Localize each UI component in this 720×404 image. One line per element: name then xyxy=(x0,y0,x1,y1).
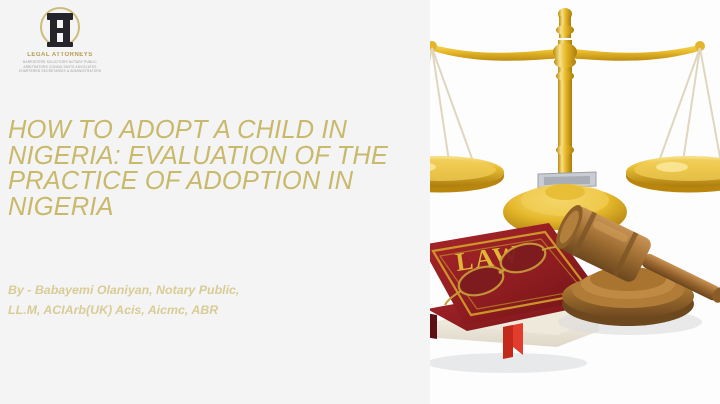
legal-artwork: LAW xyxy=(410,0,720,404)
author-byline: By - Babayemi Olaniyan, Notary Public, L… xyxy=(8,281,398,320)
firm-logo: LEGAL ATTORNEYS BARRISTERS SOLICITORS NO… xyxy=(8,2,112,74)
scales-of-justice-image xyxy=(410,0,720,230)
logo-emblem-icon xyxy=(34,5,86,52)
logo-firm-name: LEGAL ATTORNEYS xyxy=(8,52,112,58)
logo-subtitle-line-3: CHARTERED SECRETARIES & ADMINISTRATORS xyxy=(8,69,112,73)
text-panel: LEGAL ATTORNEYS BARRISTERS SOLICITORS NO… xyxy=(0,0,430,404)
title-slide: LEGAL ATTORNEYS BARRISTERS SOLICITORS NO… xyxy=(0,0,720,404)
gavel-image xyxy=(550,200,720,365)
byline-line-2: LL.M, ACIArb(UK) Acis, Aicmc, ABR xyxy=(8,301,398,321)
byline-line-1: By - Babayemi Olaniyan, Notary Public, xyxy=(8,281,398,301)
slide-title: HOW TO ADOPT A CHILD IN NIGERIA: EVALUAT… xyxy=(8,118,408,220)
pillar-monogram-icon xyxy=(47,13,73,47)
